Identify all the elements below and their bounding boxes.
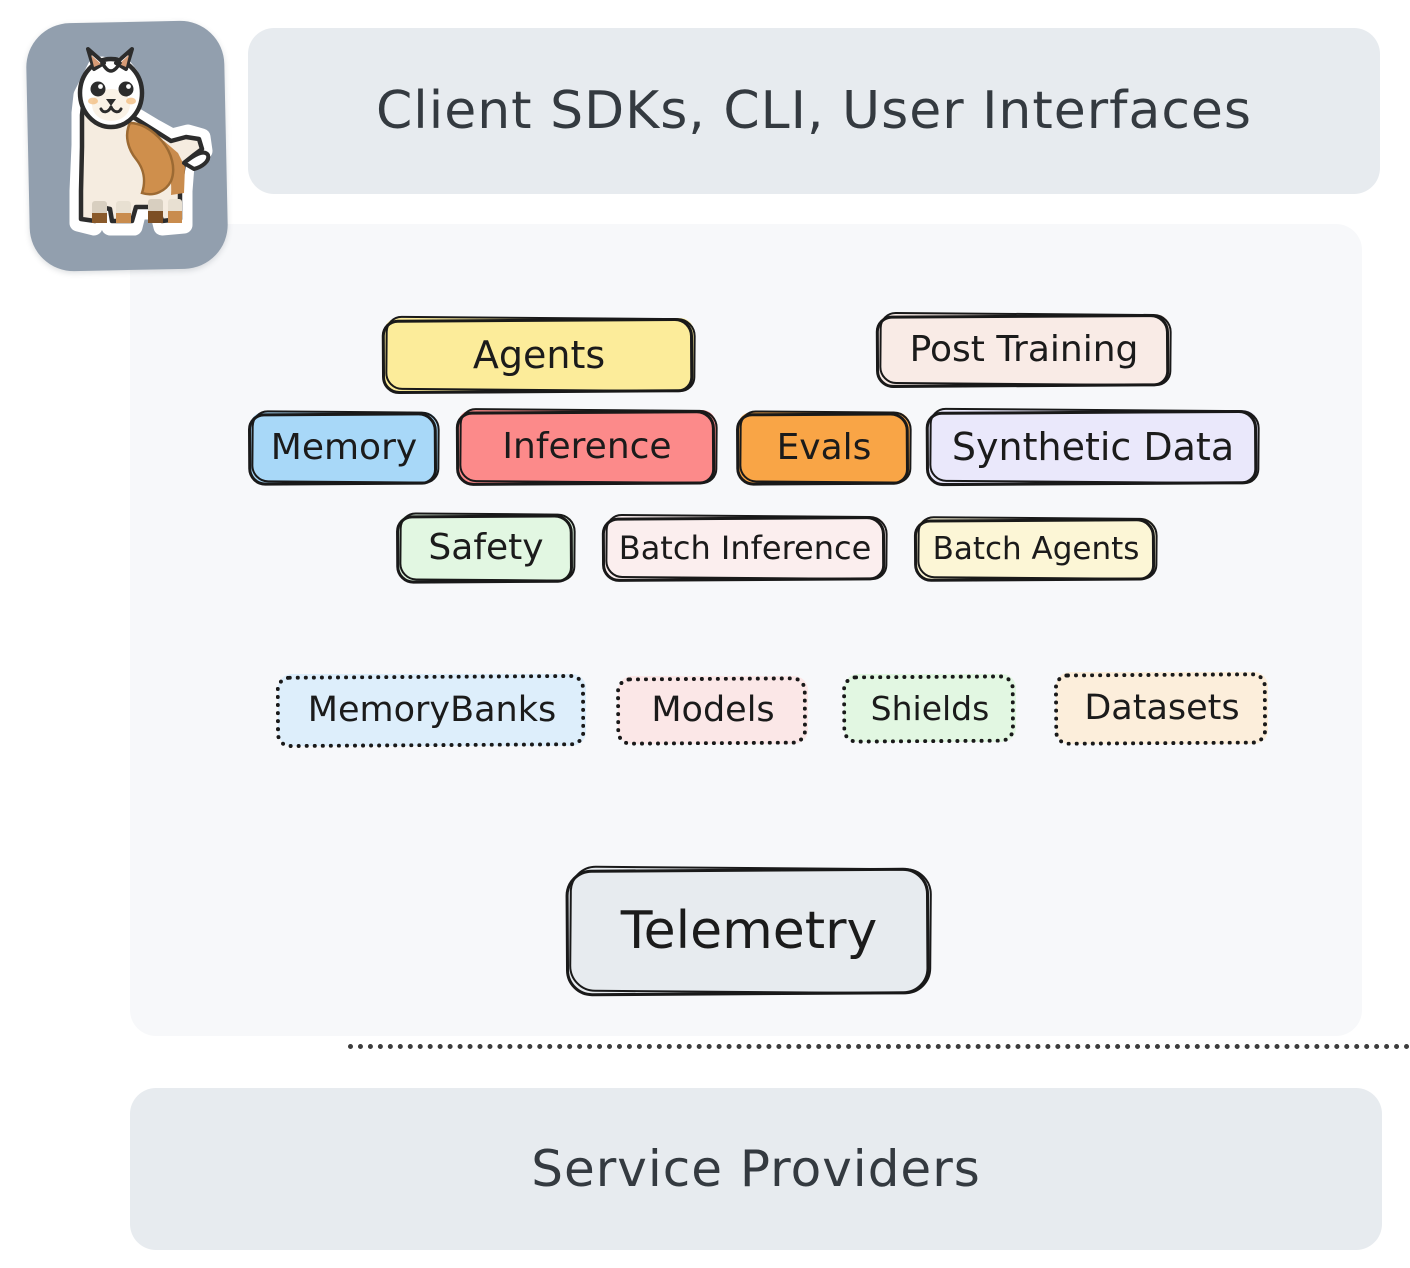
resource-node-datasets[interactable]: Datasets	[1056, 672, 1268, 744]
node-label: Telemetry	[621, 905, 878, 957]
node-label: Agents	[473, 336, 605, 374]
node-label: Evals	[777, 430, 872, 466]
node-label: Shields	[871, 692, 990, 725]
node-label: Memory	[271, 430, 417, 466]
node-telemetry[interactable]: Telemetry	[568, 868, 930, 994]
api-node-safety[interactable]: Safety	[398, 514, 574, 582]
node-label: Inference	[502, 429, 671, 465]
node-label: Synthetic Data	[952, 428, 1234, 466]
api-node-synthetic-data[interactable]: Synthetic Data	[928, 410, 1258, 484]
api-node-post-training[interactable]: Post Training	[878, 314, 1170, 386]
resource-node-shields[interactable]: Shields	[844, 674, 1016, 742]
node-label: Models	[651, 693, 774, 728]
node-label: Datasets	[1084, 691, 1239, 726]
dotted-divider	[348, 1044, 1410, 1049]
node-label: Batch Inference	[619, 532, 872, 564]
resource-node-models[interactable]: Models	[618, 676, 808, 744]
api-node-agents[interactable]: Agents	[384, 318, 694, 392]
api-node-memory[interactable]: Memory	[250, 412, 438, 484]
resource-node-memorybanks[interactable]: MemoryBanks	[278, 674, 586, 746]
llama-logo-icon	[38, 41, 216, 251]
band-top-title: Client SDKs, CLI, User Interfaces	[376, 81, 1252, 141]
node-label: Post Training	[910, 332, 1139, 368]
band-client-interfaces: Client SDKs, CLI, User Interfaces	[248, 28, 1380, 194]
api-node-batch-agents[interactable]: Batch Agents	[916, 518, 1156, 580]
node-label: Batch Agents	[933, 534, 1140, 565]
band-bottom-title: Service Providers	[531, 1140, 981, 1198]
api-node-evals[interactable]: Evals	[738, 412, 910, 484]
node-label: MemoryBanks	[308, 693, 557, 728]
architecture-diagram: Client SDKs, CLI, User Interfaces Agents…	[0, 0, 1410, 1268]
node-label: Safety	[428, 530, 543, 566]
api-node-batch-inference[interactable]: Batch Inference	[604, 516, 886, 580]
api-node-inference[interactable]: Inference	[458, 410, 716, 484]
band-service-providers: Service Providers	[130, 1088, 1382, 1250]
llama-logo-tile	[25, 20, 228, 272]
